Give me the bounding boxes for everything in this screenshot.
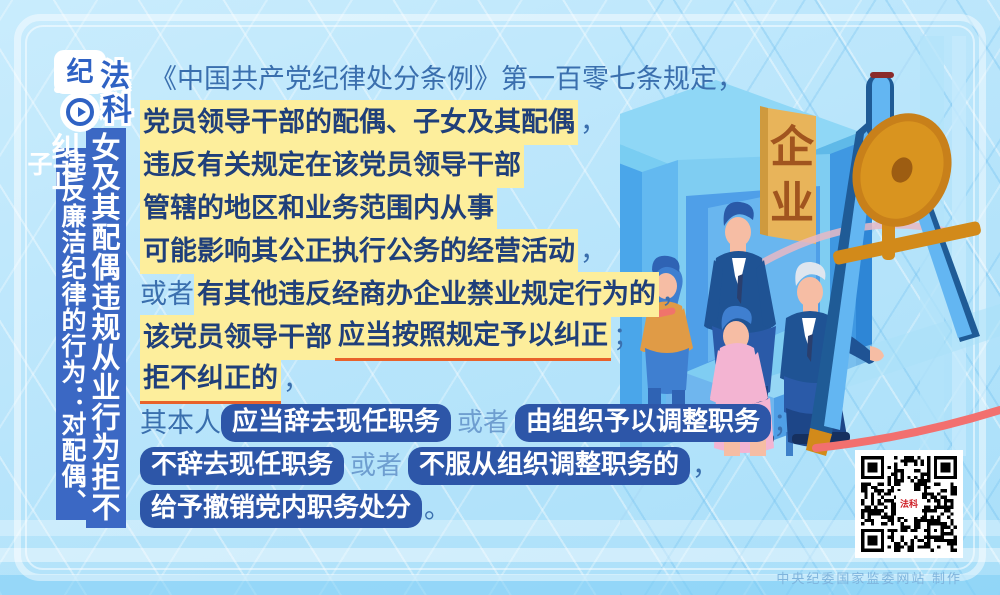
text-segment-highlight: 违反有关规定在该党员领导干部 bbox=[140, 143, 524, 188]
logo-char-ji: 纪 bbox=[58, 54, 102, 90]
vertical-title-column-right: 女及其配偶违规从业行为拒不纠正 bbox=[86, 128, 126, 528]
regulation-line: 其本人应当辞去现任职务或者由组织予以调整职务； bbox=[140, 404, 700, 442]
regulation-line: 给予撤销党内职务处分。 bbox=[140, 490, 700, 528]
text-segment-highlight: 该党员领导干部 bbox=[140, 315, 335, 360]
text-segment-pill: 不服从组织调整职务的 bbox=[408, 447, 690, 484]
text-segment-punct: ， bbox=[281, 361, 310, 399]
text-segment-highlight: 可能影响其公正执行公务的经营活动 bbox=[140, 229, 578, 274]
regulation-line: 《中国共产党纪律处分条例》第一百零七条规定， bbox=[140, 60, 700, 98]
text-segment-highlight: 有其他违反经商办企业禁业规定行为的 bbox=[194, 272, 659, 317]
regulation-line: 党员领导干部的配偶、子女及其配偶， bbox=[140, 103, 700, 141]
text-segment-plain: 其本人 bbox=[140, 404, 221, 442]
regulation-line: 违反有关规定在该党员领导干部 bbox=[140, 146, 700, 184]
qr-center-logo: 法科 bbox=[896, 491, 922, 517]
regulation-line: 不辞去现任职务或者不服从组织调整职务的， bbox=[140, 447, 700, 485]
logo-char-ke: 科 bbox=[102, 96, 132, 126]
text-segment-pill: 不辞去现任职务 bbox=[140, 447, 344, 484]
logo-char-fa: 法 bbox=[100, 62, 130, 92]
text-segment-pill: 给予撤销党内职务处分 bbox=[140, 490, 422, 527]
text-segment-highlight-underline: 应当按照规定予以纠正 bbox=[335, 313, 611, 361]
text-segment-punct: ， bbox=[578, 232, 607, 270]
text-segment-pill: 由组织予以调整职务 bbox=[515, 404, 771, 441]
text-segment-highlight-underline: 拒不纠正的 bbox=[140, 356, 281, 404]
svg-text:企: 企 bbox=[770, 123, 815, 172]
text-segment-punct: ； bbox=[611, 318, 640, 356]
poster-root: 企 业 bbox=[0, 0, 1000, 595]
credit-text: 中央纪委国家监委网站 制作 bbox=[776, 568, 962, 587]
qr-code[interactable]: 法科 bbox=[855, 450, 963, 558]
text-segment-soft: 或者 bbox=[344, 447, 408, 485]
text-segment-highlight: 管辖的地区和业务范围内从事 bbox=[140, 186, 497, 231]
svg-text:业: 业 bbox=[770, 179, 814, 228]
regulation-line: 该党员领导干部应当按照规定予以纠正； bbox=[140, 318, 700, 356]
regulation-line: 拒不纠正的， bbox=[140, 361, 700, 399]
text-segment-plain: 《中国共产党纪律处分条例》第一百零七条规定， bbox=[150, 60, 744, 98]
regulation-line: 或者有其他违反经商办企业禁业规定行为的， bbox=[140, 275, 700, 313]
text-segment-punct: ， bbox=[578, 103, 607, 141]
enterprise-sign: 企 业 bbox=[760, 106, 816, 244]
regulation-text-body: 《中国共产党纪律处分条例》第一百零七条规定，党员领导干部的配偶、子女及其配偶，违… bbox=[140, 60, 700, 533]
qr-center-logo-text: 法科 bbox=[900, 500, 918, 509]
brand-logo: 纪 法 科 bbox=[52, 52, 148, 142]
text-segment-punct: ， bbox=[659, 275, 688, 313]
text-segment-soft: 或者 bbox=[451, 404, 515, 442]
text-segment-punct: ， bbox=[690, 447, 719, 485]
text-segment-highlight: 党员领导干部的配偶、子女及其配偶 bbox=[140, 100, 578, 145]
text-segment-punct: ； bbox=[771, 404, 800, 442]
eye-play-icon bbox=[60, 92, 100, 132]
text-segment-punct: 。 bbox=[422, 490, 451, 528]
text-segment-plain: 或者 bbox=[140, 275, 194, 313]
background-band-middle bbox=[0, 548, 1000, 562]
text-segment-pill: 应当辞去现任职务 bbox=[221, 404, 451, 441]
regulation-line: 管辖的地区和业务范围内从事 bbox=[140, 189, 700, 227]
regulation-line: 可能影响其公正执行公务的经营活动， bbox=[140, 232, 700, 270]
